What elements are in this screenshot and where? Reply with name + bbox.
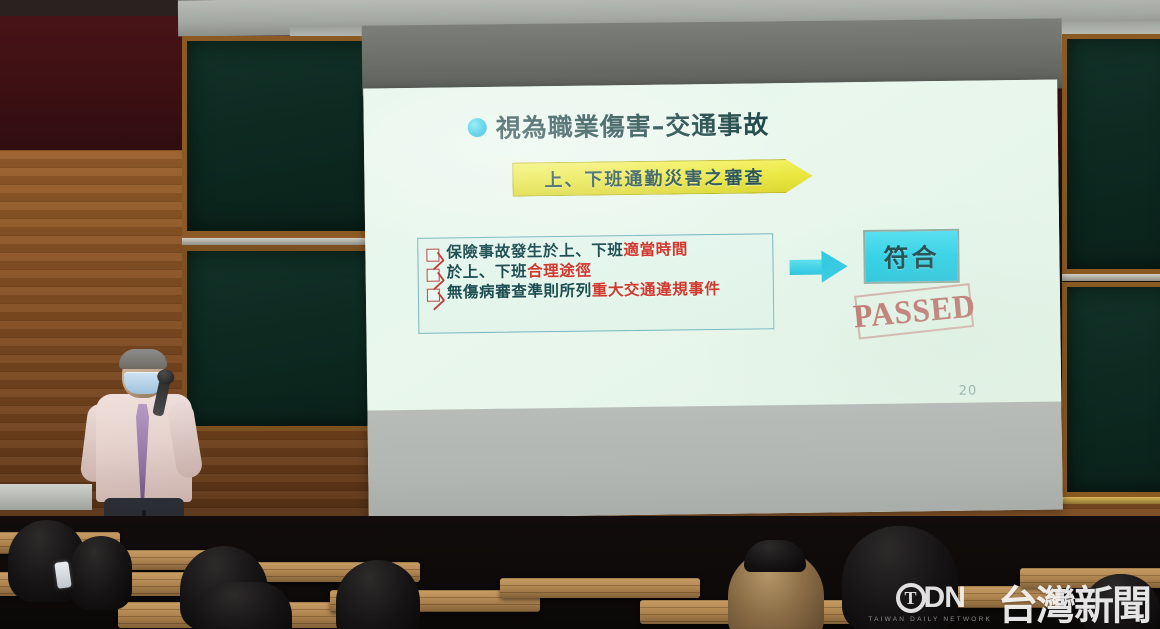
checklist-panel: 保險事故發生於上、下班適當時間 於上、下班合理途徑 無傷病審查準則所列重大交通違…: [417, 233, 774, 334]
checked-checkbox-icon: [427, 289, 440, 302]
blackboard-right-lower: [1062, 282, 1160, 497]
checklist-item-text: 無傷病審查準則所列重大交通違規事件: [447, 281, 721, 301]
chevron-banner: 上、下班通勤災害之審查: [512, 159, 812, 197]
ceiling-dark-edge: [0, 0, 200, 16]
audience-head: [196, 582, 292, 629]
chalk-tray-right: [1062, 274, 1160, 281]
slide-title: 視為職業傷害–交通事故: [467, 105, 769, 145]
passed-stamp-text: PASSED: [851, 287, 977, 336]
blackboard-right-upper: [1062, 34, 1160, 274]
checklist-item: 於上、下班合理途徑: [427, 260, 765, 281]
right-arrow-icon: [789, 250, 847, 283]
audience-area: [0, 516, 1160, 629]
bench-back: [500, 578, 700, 598]
presentation-slide: 視為職業傷害–交通事故 上、下班通勤災害之審查 保險事故發生於上、下班適當時間 …: [363, 79, 1061, 416]
checked-checkbox-icon: [426, 249, 439, 262]
slide-title-text: 視為職業傷害–交通事故: [495, 105, 769, 145]
checked-checkbox-icon: [427, 269, 440, 282]
checklist-item: 無傷病審查準則所列重大交通違規事件: [427, 280, 765, 301]
blackboard-left-lower: [182, 246, 392, 431]
result-label: 符合: [883, 238, 939, 275]
projection-screen: 視為職業傷害–交通事故 上、下班通勤災害之審查 保險事故發生於上、下班適當時間 …: [363, 79, 1063, 518]
chevron-banner-text: 上、下班通勤災害之審查: [544, 163, 780, 192]
checklist-item-lead: 保險事故發生於上、下班: [446, 241, 623, 261]
checklist-item-highlight: 重大交通違規事件: [592, 280, 721, 300]
arrow-head: [821, 250, 847, 282]
audience-head: [842, 526, 958, 629]
chalk-tray-left: [182, 238, 392, 245]
lecture-hall-photo: 視為職業傷害–交通事故 上、下班通勤災害之審查 保險事故發生於上、下班適當時間 …: [0, 0, 1160, 629]
checklist-item-lead: 無傷病審查準則所列: [447, 282, 592, 302]
side-table: [0, 484, 92, 510]
passed-stamp: PASSED: [854, 283, 974, 339]
chevron-shape: 上、下班通勤災害之審查: [512, 159, 812, 197]
checklist-item-text: 保險事故發生於上、下班適當時間: [446, 241, 688, 260]
checklist-item-highlight: 適當時間: [623, 240, 688, 259]
audience-hair-top: [744, 540, 806, 572]
filled-circle-bullet-icon: [468, 117, 487, 136]
checklist-item-text: 於上、下班合理途徑: [447, 263, 592, 281]
result-box: 符合: [863, 229, 960, 284]
checklist-item: 保險事故發生於上、下班適當時間: [426, 240, 764, 261]
presenter-hair: [119, 349, 167, 369]
arrow-shaft: [789, 260, 825, 275]
chalk-tray-right-lower: [1062, 497, 1160, 504]
blackboard-left-upper: [182, 36, 392, 236]
checklist-item-highlight: 合理途徑: [527, 262, 592, 281]
checklist-item-lead: 於上、下班: [447, 262, 528, 281]
slide-page-number: 20: [959, 384, 978, 399]
audience-head: [70, 536, 132, 610]
screen-blank-area: [367, 401, 1062, 518]
